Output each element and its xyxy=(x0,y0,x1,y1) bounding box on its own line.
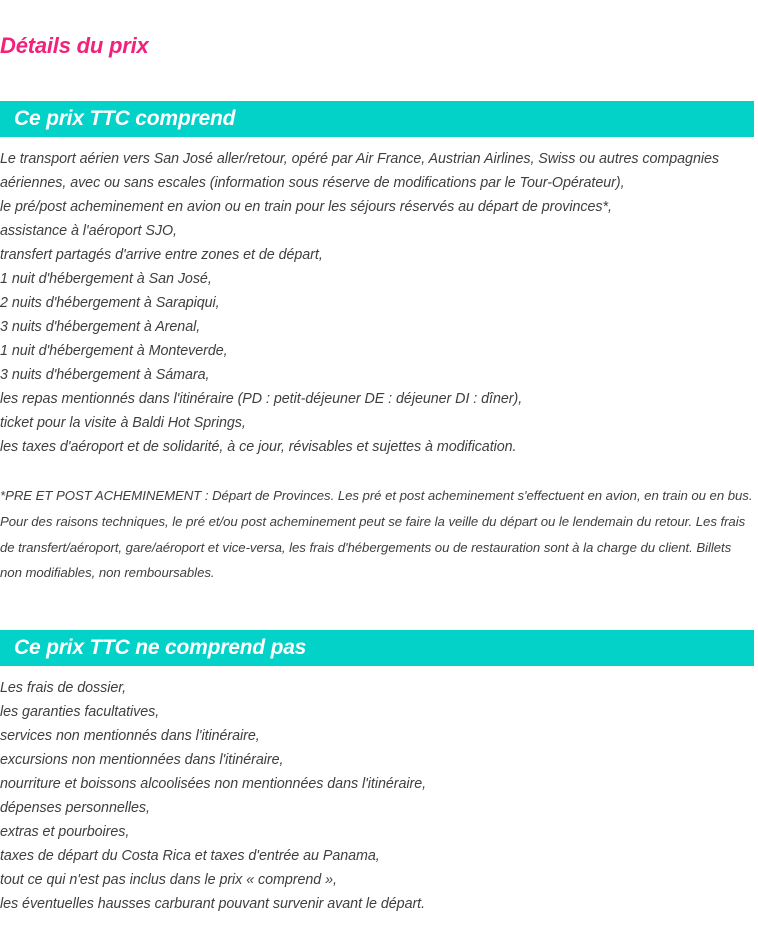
list-item: tout ce qui n'est pas inclus dans le pri… xyxy=(0,868,756,892)
page-title: Détails du prix xyxy=(0,33,149,59)
list-item: excursions non mentionnées dans l'itinér… xyxy=(0,748,756,772)
list-item: les repas mentionnés dans l'itinéraire (… xyxy=(0,387,756,411)
list-item: le pré/post acheminement en avion ou en … xyxy=(0,195,756,219)
price-details-page: Détails du prix Ce prix TTC comprend Le … xyxy=(0,0,758,947)
section-header-included: Ce prix TTC comprend xyxy=(0,101,754,137)
section-header-included-label: Ce prix TTC comprend xyxy=(14,107,235,131)
list-item: taxes de départ du Costa Rica et taxes d… xyxy=(0,844,756,868)
list-item: Les frais de dossier, xyxy=(0,676,756,700)
section-header-excluded: Ce prix TTC ne comprend pas xyxy=(0,630,754,666)
list-item: ticket pour la visite à Baldi Hot Spring… xyxy=(0,411,756,435)
pre-post-acheminement-footnote: *PRE ET POST ACHEMINEMENT : Départ de Pr… xyxy=(0,483,756,586)
list-item: Le transport aérien vers San José aller/… xyxy=(0,147,756,171)
list-item: 3 nuits d'hébergement à Sámara, xyxy=(0,363,756,387)
list-item: assistance à l'aéroport SJO, xyxy=(0,219,756,243)
list-item: 1 nuit d'hébergement à Monteverde, xyxy=(0,339,756,363)
excluded-items-list: Les frais de dossier,les garanties facul… xyxy=(0,676,756,916)
list-item: 1 nuit d'hébergement à San José, xyxy=(0,267,756,291)
list-item: nourriture et boissons alcoolisées non m… xyxy=(0,772,756,796)
list-item: aériennes, avec ou sans escales (informa… xyxy=(0,171,756,195)
list-item: services non mentionnés dans l'itinérair… xyxy=(0,724,756,748)
included-items-list: Le transport aérien vers San José aller/… xyxy=(0,147,756,459)
list-item: les taxes d'aéroport et de solidarité, à… xyxy=(0,435,756,459)
list-item: les garanties facultatives, xyxy=(0,700,756,724)
list-item: extras et pourboires, xyxy=(0,820,756,844)
section-header-excluded-label: Ce prix TTC ne comprend pas xyxy=(14,636,306,660)
list-item: 3 nuits d'hébergement à Arenal, xyxy=(0,315,756,339)
list-item: dépenses personnelles, xyxy=(0,796,756,820)
list-item: 2 nuits d'hébergement à Sarapiqui, xyxy=(0,291,756,315)
list-item: transfert partagés d'arrive entre zones … xyxy=(0,243,756,267)
list-item: les éventuelles hausses carburant pouvan… xyxy=(0,892,756,916)
